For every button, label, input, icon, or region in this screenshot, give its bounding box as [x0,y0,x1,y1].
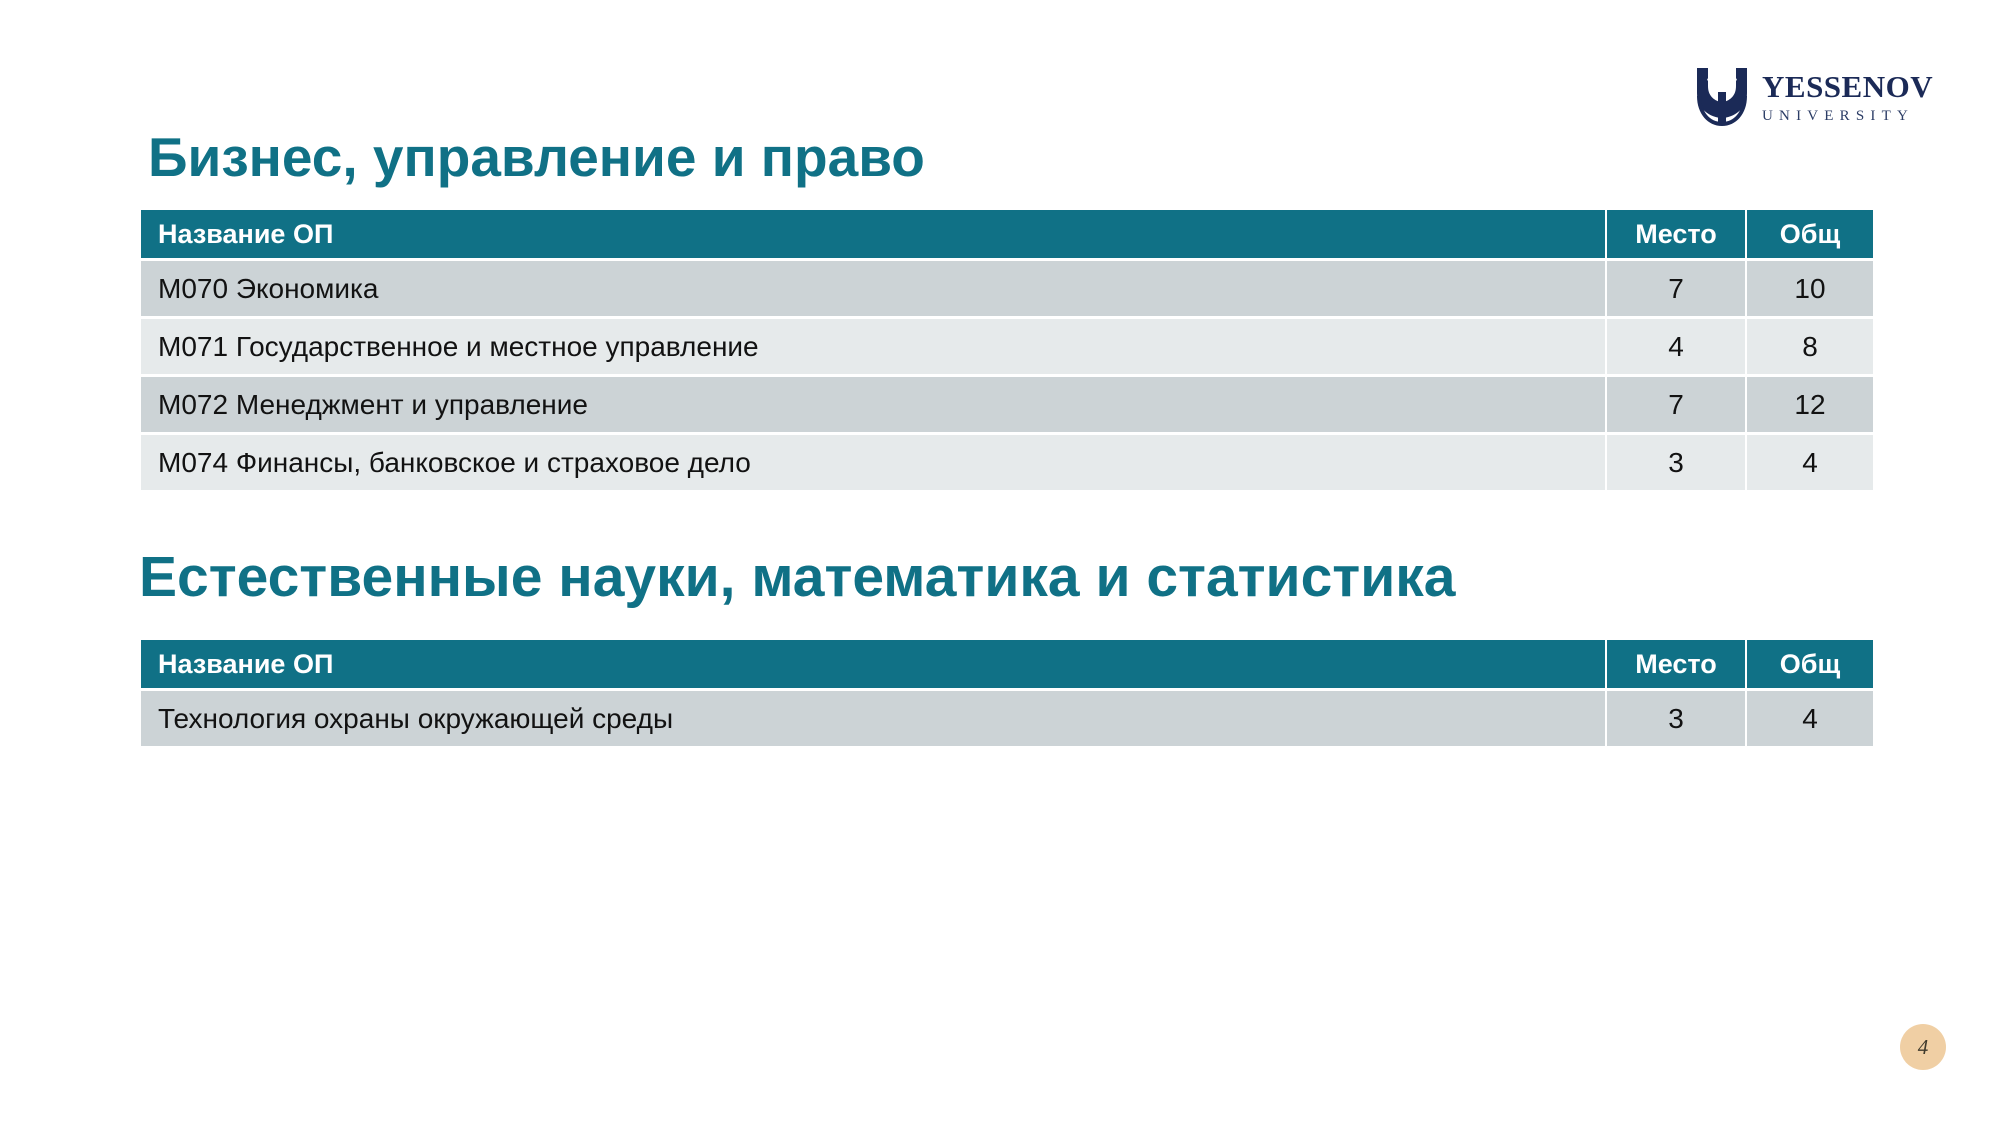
cell-program-name: M071 Государственное и местное управлени… [141,319,1605,374]
logo-wordmark: YESSENOV UNIVERSITY [1762,71,1933,124]
page-number-badge: 4 [1900,1024,1946,1070]
table-natural-sciences-math-statistics: Название ОП Место Общ Технология охраны … [139,637,1875,749]
table-business-management-law: Название ОП Место Общ M070 Экономика 7 1… [139,207,1875,493]
cell-total: 4 [1747,691,1873,746]
table-row: M071 Государственное и местное управлени… [141,319,1873,374]
column-header-name: Название ОП [141,640,1605,688]
cell-total: 4 [1747,435,1873,490]
cell-place: 3 [1607,691,1745,746]
table-header: Название ОП Место Общ [141,210,1873,258]
table-row: Технология охраны окружающей среды 3 4 [141,691,1873,746]
slide: YESSENOV UNIVERSITY Бизнес, управление и… [0,0,2000,1125]
cell-total: 10 [1747,261,1873,316]
column-header-name: Название ОП [141,210,1605,258]
section-heading-business: Бизнес, управление и право [148,125,925,189]
table-row: M070 Экономика 7 10 [141,261,1873,316]
table-body: Технология охраны окружающей среды 3 4 [141,691,1873,746]
cell-program-name: M074 Финансы, банковское и страховое дел… [141,435,1605,490]
column-header-place: Место [1607,640,1745,688]
table-body: M070 Экономика 7 10 M071 Государственное… [141,261,1873,490]
table-header-row: Название ОП Место Общ [141,210,1873,258]
cell-place: 4 [1607,319,1745,374]
table-row: M072 Менеджмент и управление 7 12 [141,377,1873,432]
cell-program-name: M072 Менеджмент и управление [141,377,1605,432]
section-heading-natural-sciences: Естественные науки, математика и статист… [139,544,1455,610]
cell-place: 7 [1607,261,1745,316]
table-header-row: Название ОП Место Общ [141,640,1873,688]
column-header-total: Общ [1747,210,1873,258]
cell-total: 12 [1747,377,1873,432]
logo-name: YESSENOV [1762,71,1933,102]
table-row: M074 Финансы, банковское и страховое дел… [141,435,1873,490]
table-header: Название ОП Место Общ [141,640,1873,688]
yessenov-y-shield-icon [1694,66,1750,128]
logo-subtitle: UNIVERSITY [1762,109,1933,124]
cell-place: 3 [1607,435,1745,490]
cell-program-name: M070 Экономика [141,261,1605,316]
cell-program-name: Технология охраны окружающей среды [141,691,1605,746]
column-header-place: Место [1607,210,1745,258]
cell-place: 7 [1607,377,1745,432]
column-header-total: Общ [1747,640,1873,688]
yessenov-university-logo: YESSENOV UNIVERSITY [1694,66,1933,128]
cell-total: 8 [1747,319,1873,374]
